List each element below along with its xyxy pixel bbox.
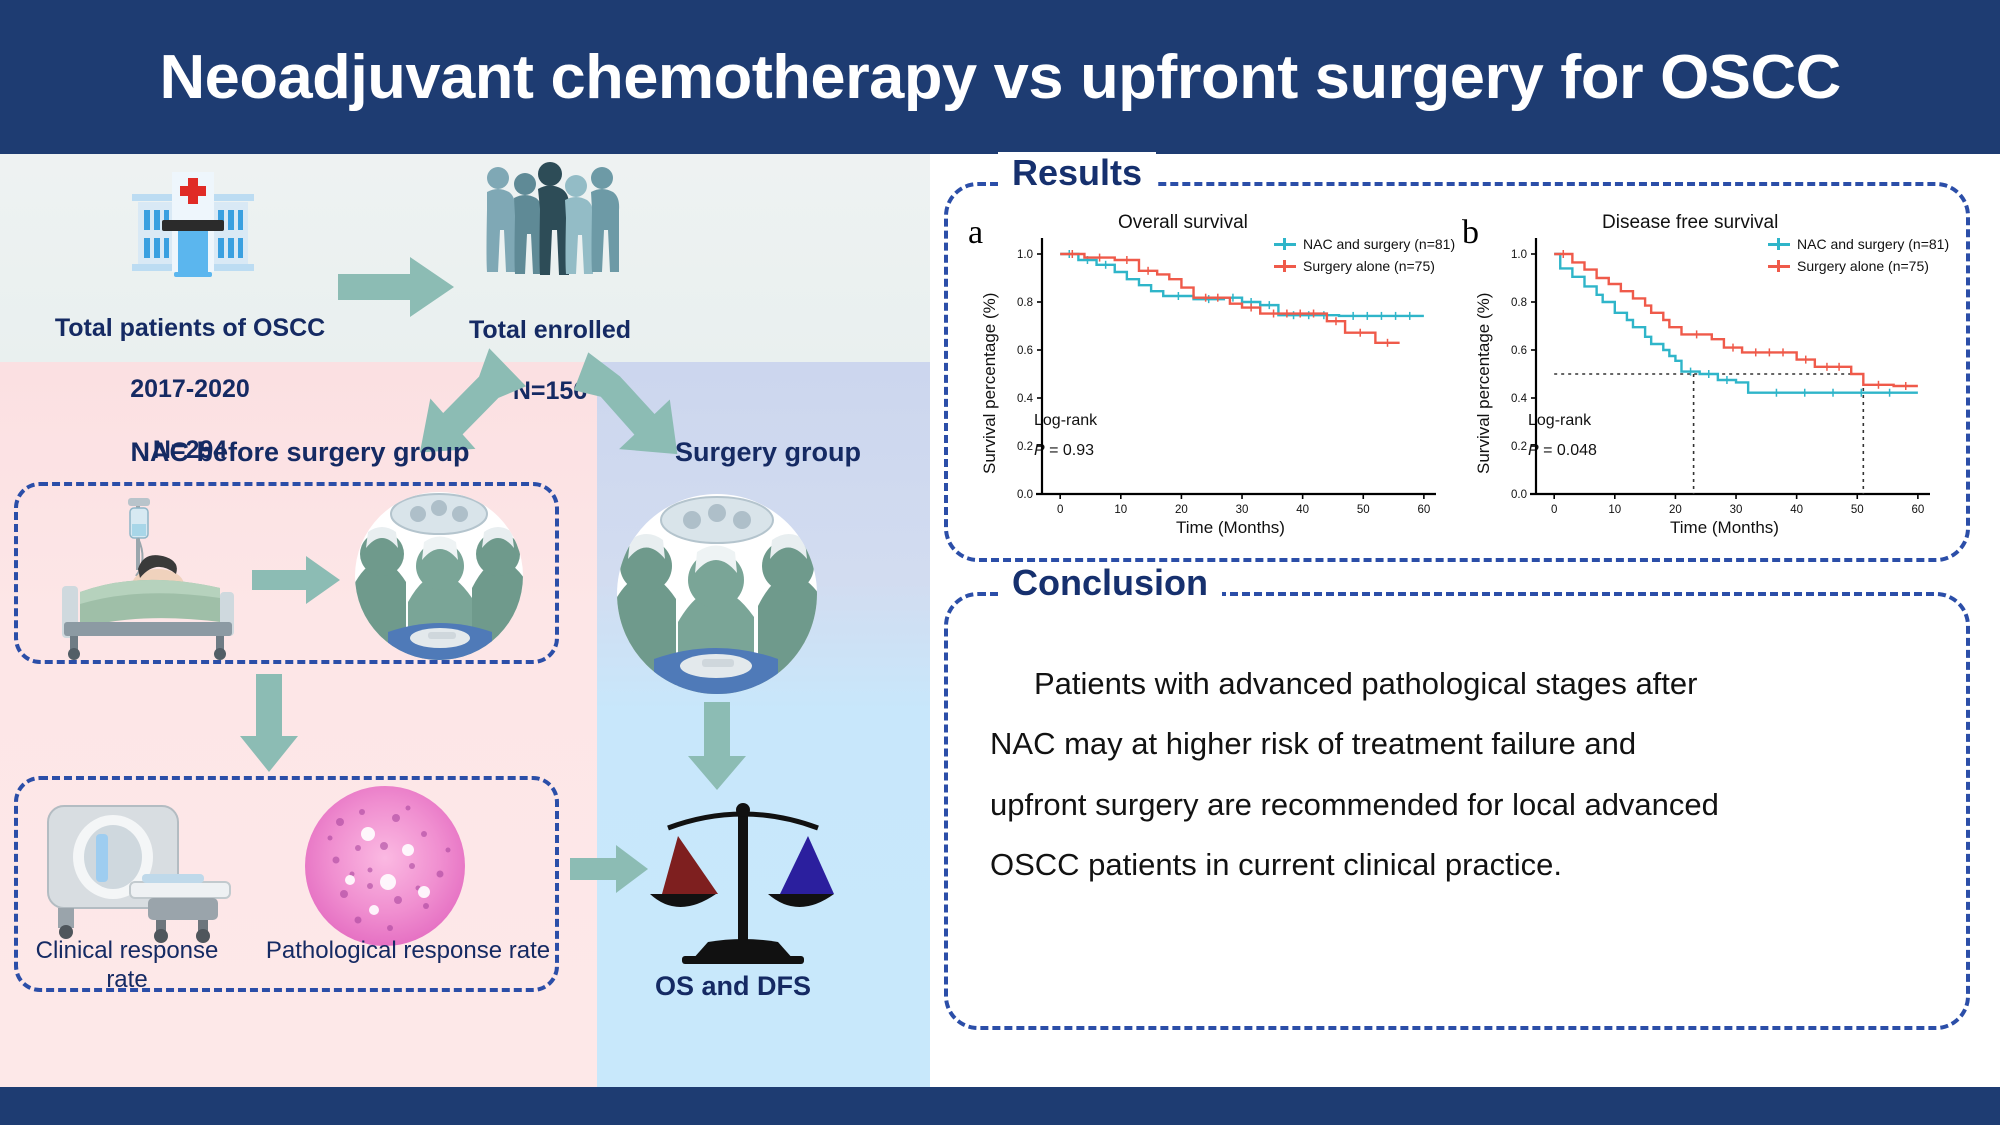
svg-text:20: 20 <box>1175 504 1188 516</box>
svg-text:0.0: 0.0 <box>1511 489 1527 501</box>
svg-text:0.6: 0.6 <box>1511 345 1527 357</box>
chart-disease-free-survival: b Disease free survival Survival percent… <box>1460 206 1940 546</box>
conclusion-line-1: Patients with advanced pathological stag… <box>990 654 1920 714</box>
chemotherapy-infusion-icon <box>40 492 255 660</box>
conclusion-line-4: OSCC patients in current clinical practi… <box>990 835 1920 895</box>
svg-text:0: 0 <box>1057 504 1063 516</box>
histopathology-slide-icon <box>300 782 470 950</box>
conclusion-line-2: NAC may at higher risk of treatment fail… <box>990 714 1920 774</box>
conclusion-section-title: Conclusion <box>998 562 1222 604</box>
conclusion-text: Patients with advanced pathological stag… <box>990 654 1920 896</box>
arrow-nac-internal <box>252 554 342 606</box>
surgery-group-label: Surgery group <box>618 436 918 469</box>
svg-text:10: 10 <box>1114 504 1127 516</box>
svg-text:0: 0 <box>1551 504 1557 516</box>
chart-b-plot: 0.00.20.40.60.81.00102030405060 <box>1460 206 1940 546</box>
arrow-outcomes-to-osdfs <box>570 844 650 894</box>
svg-text:1.0: 1.0 <box>1017 249 1033 261</box>
svg-text:1.0: 1.0 <box>1511 249 1527 261</box>
mri-scanner-icon <box>30 786 245 946</box>
svg-text:50: 50 <box>1357 504 1370 516</box>
svg-text:40: 40 <box>1296 504 1309 516</box>
svg-text:0.8: 0.8 <box>1017 297 1033 309</box>
svg-text:0.2: 0.2 <box>1511 441 1527 453</box>
arrow-surgery-to-osdfs <box>686 702 748 792</box>
people-group-icon <box>478 162 623 287</box>
svg-text:30: 30 <box>1236 504 1249 516</box>
svg-text:50: 50 <box>1851 504 1864 516</box>
pathological-response-label: Pathological response rate <box>258 936 558 965</box>
svg-text:60: 60 <box>1911 504 1924 516</box>
surgery-group-icon <box>612 494 822 694</box>
balance-scale-icon <box>648 798 838 966</box>
svg-text:0.2: 0.2 <box>1017 441 1033 453</box>
arrow-nac-to-outcomes <box>238 674 300 774</box>
results-section-title: Results <box>998 152 1156 194</box>
chart-overall-survival: a Overall survival Survival percentage (… <box>966 206 1446 546</box>
flowchart-panel: Total patients of OSCC 2017-2020 N=294 T… <box>0 154 930 1087</box>
results-conclusion-panel: Results a Overall survival Survival perc… <box>930 154 2000 1087</box>
svg-text:0.0: 0.0 <box>1017 489 1033 501</box>
svg-text:20: 20 <box>1669 504 1682 516</box>
page-title: Neoadjuvant chemotherapy vs upfront surg… <box>159 42 1840 113</box>
svg-text:0.4: 0.4 <box>1511 393 1528 405</box>
conclusion-line-3: upfront surgery are recommended for loca… <box>990 775 1920 835</box>
svg-text:40: 40 <box>1790 504 1803 516</box>
chart-a-plot: 0.00.20.40.60.81.00102030405060 <box>966 206 1446 546</box>
footer-bar <box>0 1087 2000 1125</box>
clinical-response-label: Clinical response rate <box>12 936 242 995</box>
svg-text:0.4: 0.4 <box>1017 393 1034 405</box>
svg-text:10: 10 <box>1608 504 1621 516</box>
svg-text:30: 30 <box>1730 504 1743 516</box>
os-dfs-label: OS and DFS <box>608 970 858 1003</box>
hospital-icon <box>118 164 268 284</box>
svg-text:0.6: 0.6 <box>1017 345 1033 357</box>
svg-text:60: 60 <box>1417 504 1430 516</box>
nac-group-label: NAC before surgery group <box>60 436 540 469</box>
surgery-team-icon <box>352 492 527 660</box>
header-bar: Neoadjuvant chemotherapy vs upfront surg… <box>0 0 2000 154</box>
svg-text:0.8: 0.8 <box>1511 297 1527 309</box>
